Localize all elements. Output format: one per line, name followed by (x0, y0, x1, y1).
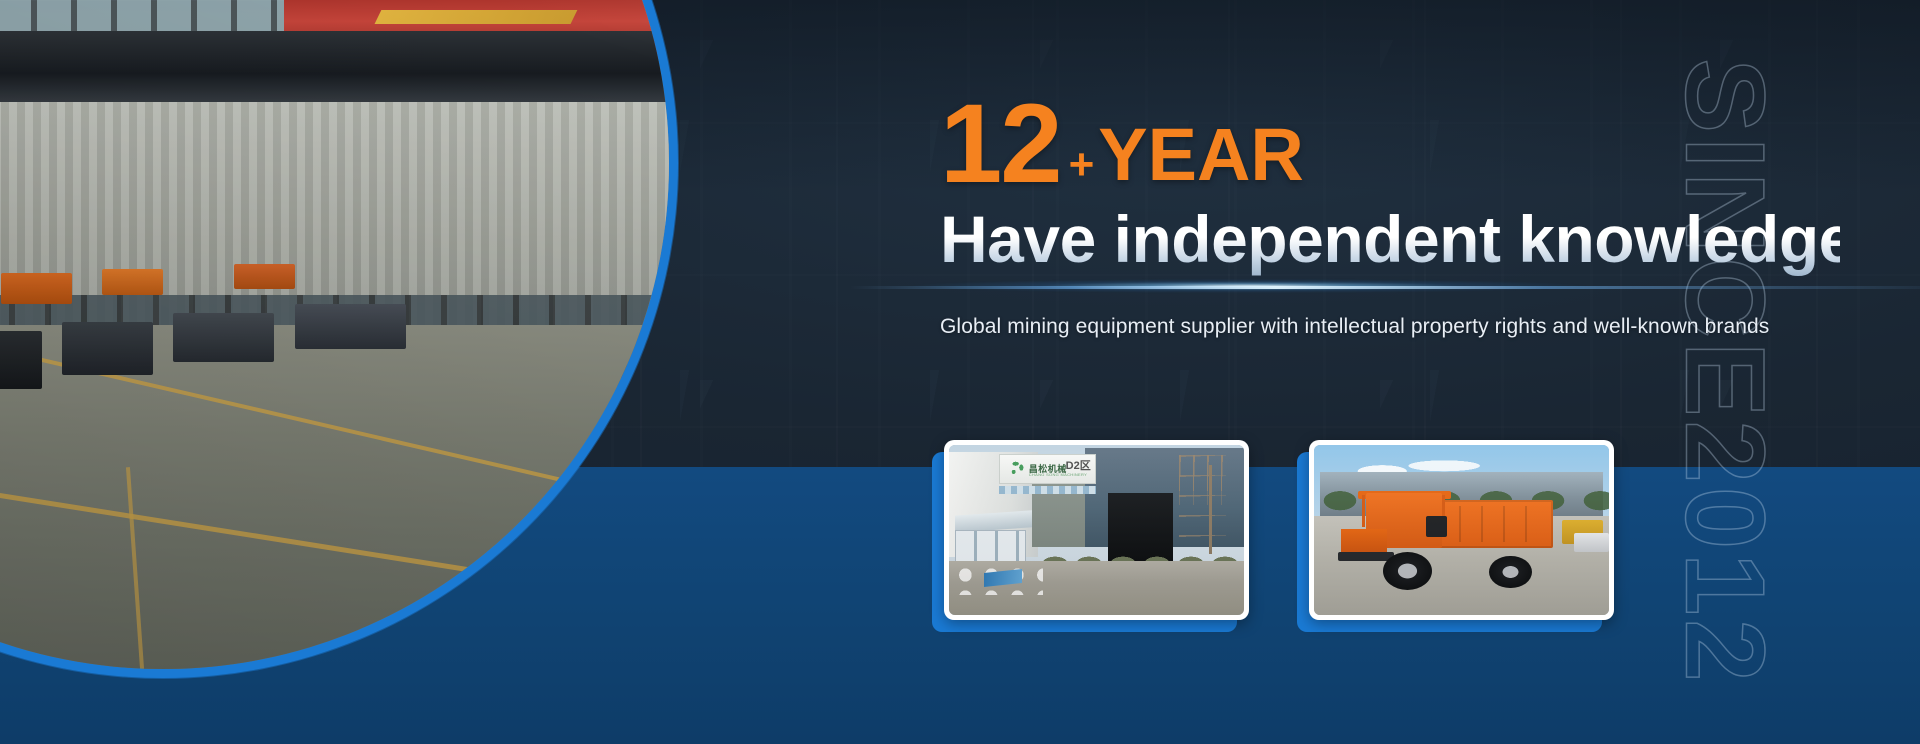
subtitle: Global mining equipment supplier with in… (940, 315, 1840, 339)
card-photo-image (1314, 445, 1609, 615)
headline-wrap: Have independent knowledge (940, 201, 1840, 299)
photo-circle-image (0, 0, 669, 669)
card-photo-border: 昌松机械 CHANG SONG MACHINERY D2区 (944, 440, 1249, 620)
card-mining-truck[interactable] (1309, 440, 1614, 620)
years-plus-sign: + (1069, 145, 1095, 185)
company-hero-banner: SINCE2012 (0, 0, 1920, 744)
card-photo-border (1309, 440, 1614, 620)
workshop-photo-circle (0, 0, 678, 678)
years-badge: 12 + YEAR (940, 92, 1840, 195)
card-photo-image: 昌松机械 CHANG SONG MACHINERY D2区 (949, 445, 1244, 615)
workshop-scene (0, 0, 669, 669)
headline: Have independent knowledge (940, 201, 1840, 277)
headline-glow-line (850, 286, 1920, 289)
years-label: YEAR (1098, 121, 1304, 189)
photo-card-row: 昌松机械 CHANG SONG MACHINERY D2区 (944, 440, 1614, 620)
years-number: 12 (940, 92, 1061, 195)
card-factory-gate[interactable]: 昌松机械 CHANG SONG MACHINERY D2区 (944, 440, 1249, 620)
hero-text-block: 12 + YEAR Have independent knowledge Glo… (940, 92, 1840, 339)
